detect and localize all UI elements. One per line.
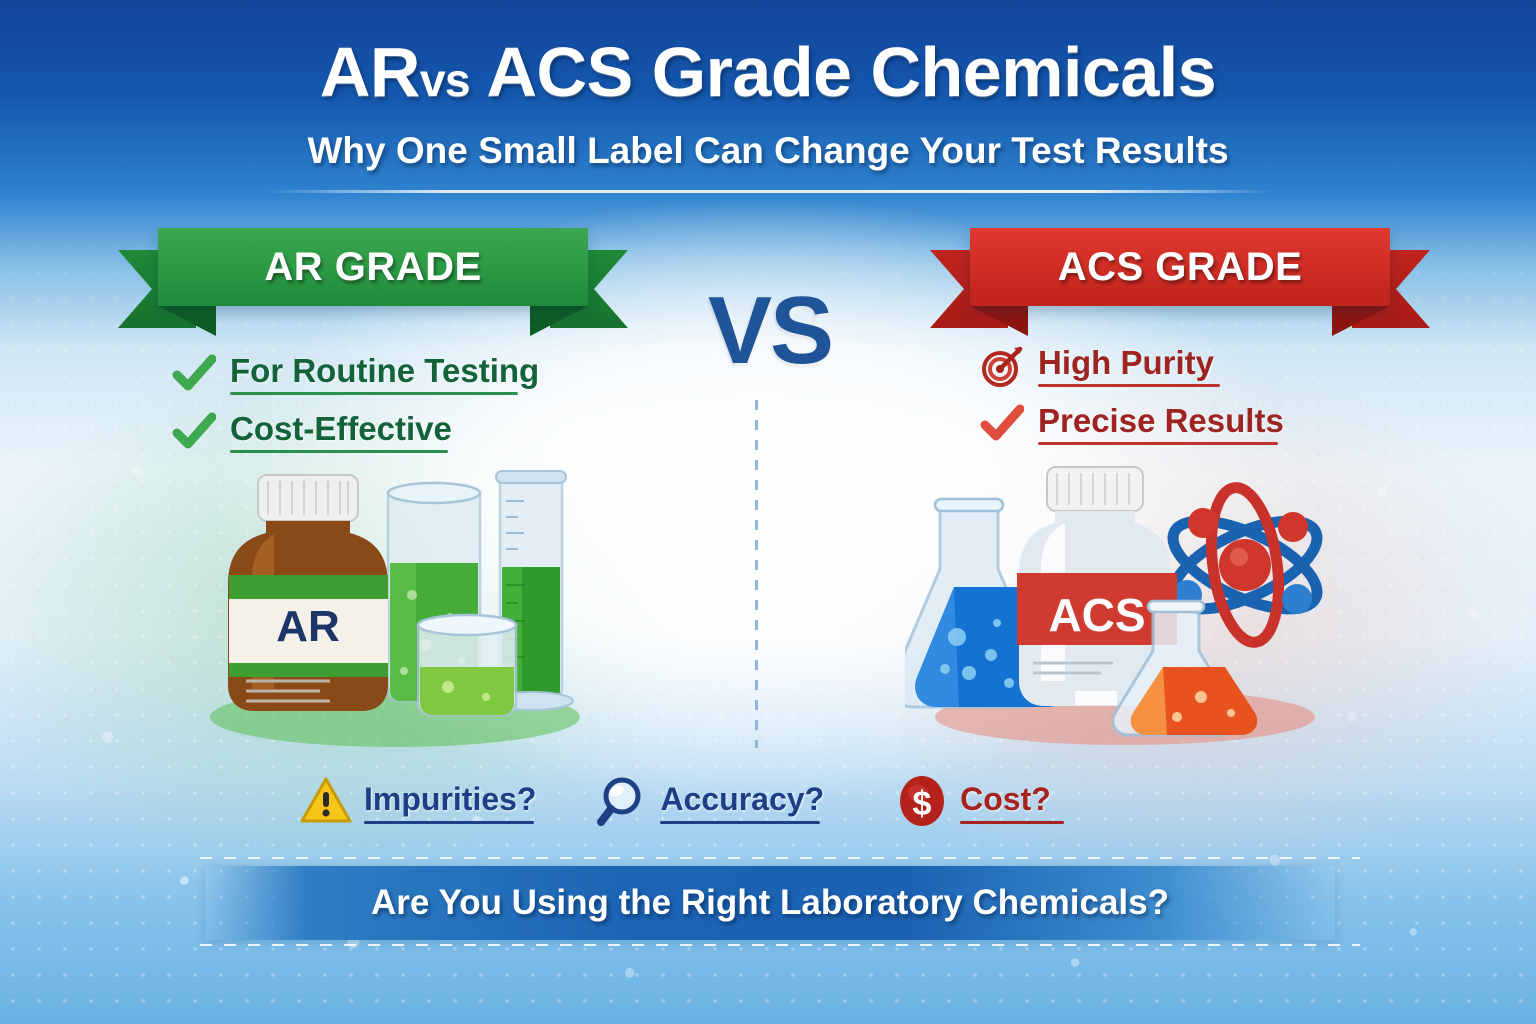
- page-title: ARvs ACS Grade Chemicals: [0, 32, 1536, 112]
- acs-bottle-label: ACS: [1048, 589, 1145, 641]
- question-row: Impurities? Accuracy? $ Cost?: [300, 766, 1120, 836]
- page-subtitle: Why One Small Label Can Change Your Test…: [0, 130, 1536, 172]
- acs-grade-ribbon: ACS GRADE: [930, 228, 1430, 306]
- small-beaker: [418, 615, 516, 715]
- infographic-canvas: ARvs ACS Grade Chemicals Why One Small L…: [0, 0, 1536, 1024]
- acs-grade-ribbon-label: ACS GRADE: [970, 228, 1390, 306]
- ar-glassware-illustration: AR: [180, 455, 610, 755]
- title-part-acs: ACS Grade Chemicals: [486, 33, 1216, 111]
- check-icon: [172, 410, 216, 454]
- question-underline: [660, 821, 820, 824]
- feature-label: High Purity: [1038, 346, 1220, 380]
- ar-grade-ribbon: AR GRADE: [118, 228, 628, 306]
- acs-feature-list: High Purity Precise Results: [980, 344, 1410, 460]
- footer-dashed-line-bottom: [200, 944, 1360, 946]
- warning-triangle-icon: [300, 775, 352, 827]
- question-underline: [364, 821, 534, 824]
- title-part-vs: vs: [420, 54, 470, 106]
- header-divider-rule: [265, 190, 1275, 193]
- check-icon: [172, 352, 216, 396]
- feature-underline: [1038, 384, 1220, 387]
- check-icon: [980, 402, 1024, 446]
- feature-underline: [230, 392, 518, 395]
- question-underline: [960, 821, 1064, 824]
- footer-cta-label: Are You Using the Right Laboratory Chemi…: [371, 883, 1169, 923]
- feature-item: Precise Results: [980, 402, 1410, 446]
- column-divider: [755, 400, 758, 748]
- amber-reagent-bottle: AR: [228, 475, 388, 711]
- question-label: Impurities?: [364, 775, 536, 815]
- ar-grade-ribbon-label: AR GRADE: [158, 228, 588, 306]
- feature-underline: [230, 450, 448, 453]
- feature-item: For Routine Testing: [172, 352, 592, 396]
- feature-label: Cost-Effective: [230, 412, 452, 446]
- feature-label: Precise Results: [1038, 404, 1284, 438]
- target-icon: [980, 344, 1024, 388]
- title-part-ar: AR: [320, 33, 420, 111]
- acs-glassware-illustration: ACS: [905, 455, 1350, 755]
- magnifier-icon: [596, 775, 648, 827]
- question-label: Cost?: [960, 775, 1064, 815]
- question-item-impurities: Impurities?: [300, 775, 536, 827]
- question-label: Accuracy?: [660, 775, 824, 815]
- feature-item: Cost-Effective: [172, 410, 592, 454]
- feature-item: High Purity: [980, 344, 1410, 388]
- feature-underline: [1038, 442, 1278, 445]
- question-item-cost: $ Cost?: [896, 775, 1064, 827]
- ar-feature-list: For Routine Testing Cost-Effective: [172, 352, 592, 468]
- svg-text:$: $: [913, 785, 932, 823]
- footer-cta-bar: Are You Using the Right Laboratory Chemi…: [205, 866, 1335, 940]
- question-item-accuracy: Accuracy?: [596, 775, 824, 827]
- footer-dashed-line-top: [200, 857, 1360, 859]
- header-band: ARvs ACS Grade Chemicals Why One Small L…: [0, 0, 1536, 193]
- vs-label: VS: [660, 276, 880, 386]
- feature-label: For Routine Testing: [230, 354, 539, 388]
- ar-bottle-label: AR: [276, 602, 340, 651]
- dollar-circle-icon: $: [896, 775, 948, 827]
